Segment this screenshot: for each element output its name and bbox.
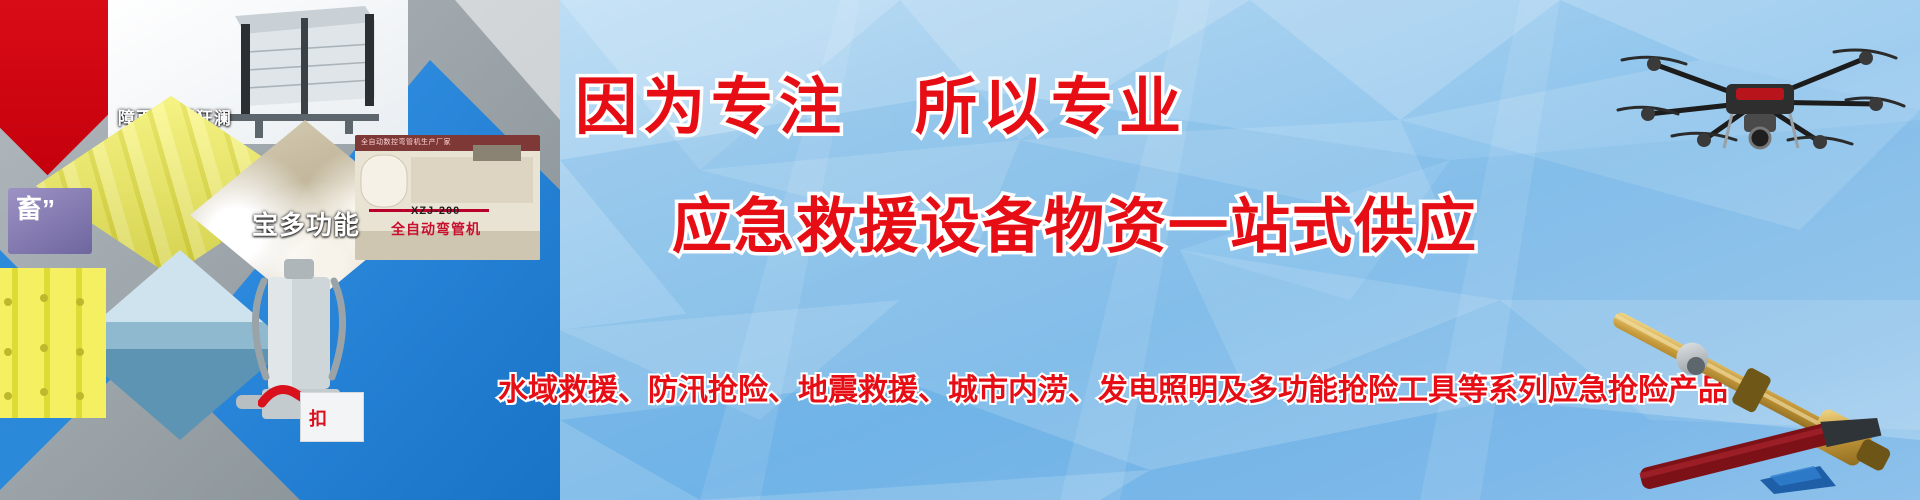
- rescue-tool-icon: [1584, 304, 1914, 494]
- tile-quote-box: 畜”: [8, 188, 92, 254]
- tile-yellow-block-dots: [0, 268, 106, 418]
- promo-banner: 障百川 回狂澜 畜”: [0, 0, 1920, 500]
- machine-model: XZJ-200: [411, 205, 460, 217]
- tile-machine: 全自动数控弯管机生产厂家 XZJ-200 全自动弯管机: [355, 135, 540, 260]
- machine-top-strip: 全自动数控弯管机生产厂家: [361, 137, 451, 147]
- drone-icon: [1608, 44, 1908, 164]
- caption-multifunction: 宝多功能: [252, 205, 360, 242]
- machine-name: 全自动弯管机: [391, 219, 481, 239]
- tile-white-box: 扣: [300, 392, 364, 442]
- product-photo-collage: 障百川 回狂澜 畜”: [0, 0, 560, 500]
- tile-flood-barrier: [215, 2, 390, 142]
